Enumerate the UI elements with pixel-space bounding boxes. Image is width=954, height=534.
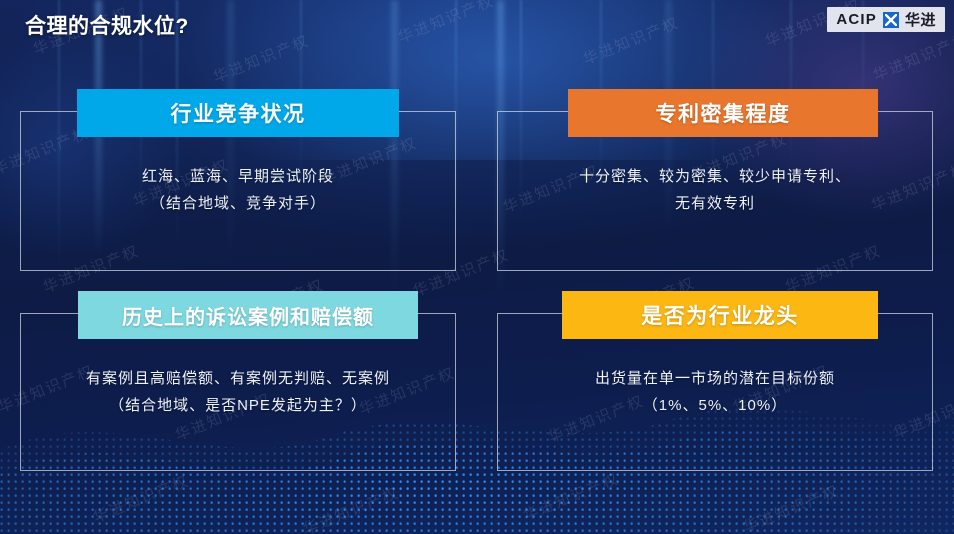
card-line: 十分密集、较为密集、较少申请专利、 bbox=[497, 163, 933, 190]
card-industry-leader[interactable]: 是否为行业龙头 出货量在单一市场的潜在目标份额 （1%、5%、10%） bbox=[497, 313, 933, 471]
watermark-text: 华进知识产权 bbox=[90, 470, 192, 528]
watermark-text: 华进知识产权 bbox=[520, 468, 622, 526]
slide-canvas: 华进知识产权 华进知识产权 华进知识产权 华进知识产权 华进知识产权 华进知识产… bbox=[0, 0, 954, 534]
logo-text-cn: 华进 bbox=[905, 9, 936, 30]
watermark-text: 华进知识产权 bbox=[395, 0, 497, 47]
card-header-industry-leader: 是否为行业龙头 bbox=[562, 291, 878, 339]
watermark-text: 华进知识产权 bbox=[580, 12, 682, 70]
card-body-patent-density: 十分密集、较为密集、较少申请专利、 无有效专利 bbox=[497, 163, 933, 217]
card-line: （结合地域、竞争对手） bbox=[20, 190, 456, 217]
acip-logo: ACIP 华进 bbox=[827, 7, 945, 32]
watermark-text: 华进知识产权 bbox=[740, 480, 842, 534]
watermark-text: 华进知识产权 bbox=[870, 28, 954, 86]
card-body-industry-competition: 红海、蓝海、早期尝试阶段 （结合地域、竞争对手） bbox=[20, 163, 456, 217]
logo-text-en: ACIP bbox=[836, 11, 877, 28]
watermark-text: 华进知识产权 bbox=[210, 30, 312, 88]
card-body-industry-leader: 出货量在单一市场的潜在目标份额 （1%、5%、10%） bbox=[497, 365, 933, 419]
card-patent-density[interactable]: 专利密集程度 十分密集、较为密集、较少申请专利、 无有效专利 bbox=[497, 111, 933, 271]
card-line: 出货量在单一市场的潜在目标份额 bbox=[497, 365, 933, 392]
page-title: 合理的合规水位? bbox=[25, 10, 189, 40]
card-line: （1%、5%、10%） bbox=[497, 392, 933, 419]
acip-diamond-mark-icon bbox=[883, 12, 899, 28]
card-body-litigation-history: 有案例且高赔偿额、有案例无判赔、无案例 （结合地域、是否NPE发起为主？） bbox=[20, 365, 456, 419]
card-line: 无有效专利 bbox=[497, 190, 933, 217]
card-line: （结合地域、是否NPE发起为主？） bbox=[20, 392, 456, 419]
card-header-litigation-history: 历史上的诉讼案例和赔偿额 bbox=[78, 291, 418, 339]
card-industry-competition[interactable]: 行业竞争状况 红海、蓝海、早期尝试阶段 （结合地域、竞争对手） bbox=[20, 111, 456, 271]
card-litigation-history[interactable]: 历史上的诉讼案例和赔偿额 有案例且高赔偿额、有案例无判赔、无案例 （结合地域、是… bbox=[20, 313, 456, 471]
card-header-patent-density: 专利密集程度 bbox=[568, 89, 878, 137]
watermark-text: 华进知识产权 bbox=[300, 482, 402, 534]
card-line: 有案例且高赔偿额、有案例无判赔、无案例 bbox=[20, 365, 456, 392]
card-line: 红海、蓝海、早期尝试阶段 bbox=[20, 163, 456, 190]
card-header-industry-competition: 行业竞争状况 bbox=[77, 89, 399, 137]
